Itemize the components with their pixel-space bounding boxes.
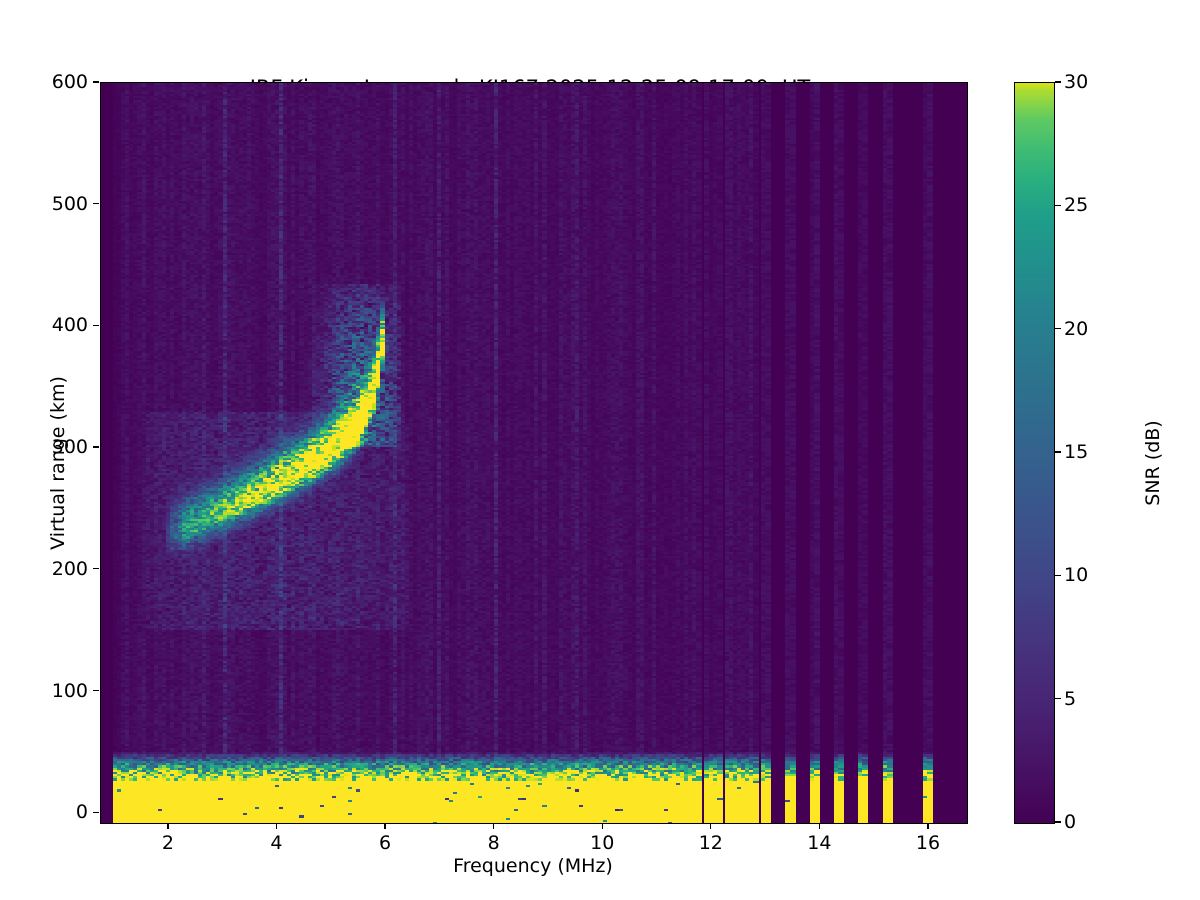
colorbar-tick-mark — [1055, 698, 1061, 699]
x-tick-label: 16 — [916, 832, 940, 854]
x-tick-mark — [276, 823, 277, 829]
y-tick-mark — [93, 203, 99, 204]
x-tick-mark — [384, 823, 385, 829]
ionogram-plot-area — [100, 82, 968, 824]
ionogram-figure: IRF Kiruna Ionosonde KI167 2025-12-25 09… — [0, 0, 1200, 900]
x-tick-label: 8 — [488, 832, 500, 854]
colorbar-tick-mark — [1055, 575, 1061, 576]
colorbar-tick-mark — [1055, 205, 1061, 206]
colorbar-tick-mark — [1055, 328, 1061, 329]
x-tick-label: 4 — [270, 832, 282, 854]
colorbar-tick-label: 5 — [1064, 688, 1076, 710]
x-tick-mark — [927, 823, 928, 829]
colorbar-label: SNR (dB) — [1142, 363, 1164, 563]
y-tick-label: 400 — [52, 314, 88, 336]
y-axis-label: Virtual range (km) — [47, 373, 69, 553]
snr-colorbar — [1014, 82, 1055, 824]
y-tick-mark — [93, 325, 99, 326]
x-tick-label: 10 — [590, 832, 614, 854]
colorbar-tick-mark — [1055, 81, 1061, 82]
x-tick-mark — [602, 823, 603, 829]
colorbar-tick-mark — [1055, 821, 1061, 822]
y-tick-label: 600 — [52, 71, 88, 93]
colorbar-tick-label: 10 — [1064, 564, 1088, 586]
colorbar-tick-label: 30 — [1064, 71, 1088, 93]
y-tick-label: 200 — [52, 558, 88, 580]
colorbar-tick-label: 20 — [1064, 318, 1088, 340]
x-tick-label: 2 — [162, 832, 174, 854]
y-tick-label: 100 — [52, 680, 88, 702]
y-tick-mark — [93, 812, 99, 813]
colorbar-tick-label: 15 — [1064, 441, 1088, 463]
x-tick-label: 6 — [379, 832, 391, 854]
x-tick-label: 12 — [699, 832, 723, 854]
y-tick-mark — [93, 690, 99, 691]
x-tick-label: 14 — [807, 832, 831, 854]
y-tick-label: 0 — [76, 801, 88, 823]
x-tick-mark — [710, 823, 711, 829]
x-tick-mark — [167, 823, 168, 829]
y-tick-label: 500 — [52, 193, 88, 215]
colorbar-tick-label: 0 — [1064, 811, 1076, 833]
colorbar-tick-label: 25 — [1064, 194, 1088, 216]
y-tick-mark — [93, 81, 99, 82]
colorbar-tick-mark — [1055, 451, 1061, 452]
x-tick-mark — [493, 823, 494, 829]
x-axis-label: Frequency (MHz) — [100, 855, 966, 877]
x-tick-mark — [819, 823, 820, 829]
y-tick-mark — [93, 446, 99, 447]
ionogram-heatmap — [101, 83, 967, 823]
y-tick-mark — [93, 568, 99, 569]
